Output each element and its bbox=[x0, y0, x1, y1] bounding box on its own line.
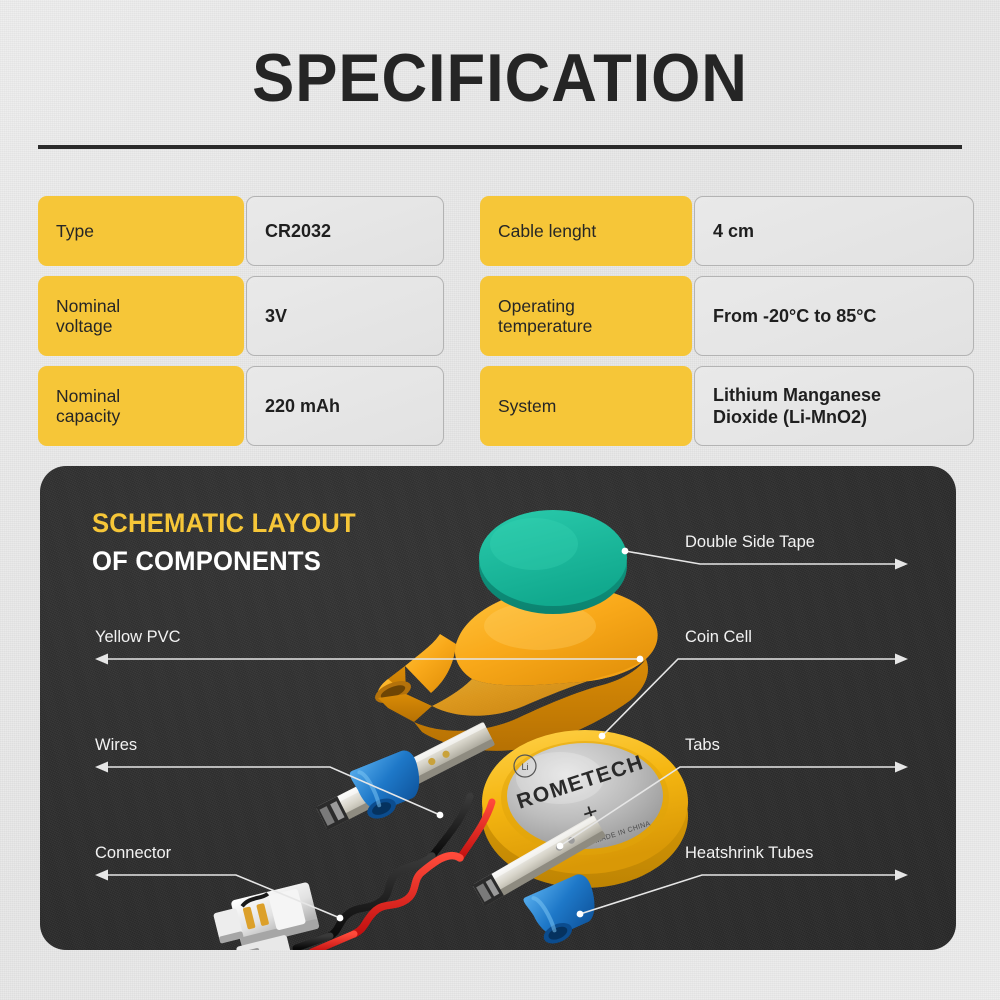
spec-value: 4 cm bbox=[694, 196, 974, 266]
table-row: Nominalvoltage 3V bbox=[38, 276, 482, 356]
callout-label-double-side-tape: Double Side Tape bbox=[685, 533, 815, 552]
title-divider bbox=[38, 145, 962, 149]
schematic-panel: SCHEMATIC LAYOUT OF COMPONENTS bbox=[40, 466, 956, 950]
leader-dot-heatshrink-tubes bbox=[577, 911, 584, 918]
callout-label-heatshrink-tubes: Heatshrink Tubes bbox=[685, 844, 813, 863]
spec-label: Cable lenght bbox=[480, 196, 692, 266]
spec-value: From -20°C to 85°C bbox=[694, 276, 974, 356]
spec-column-left: Type CR2032 Nominalvoltage 3V Nominalcap… bbox=[38, 196, 482, 456]
arrowhead-tabs bbox=[895, 762, 908, 773]
callout-label-coin-cell: Coin Cell bbox=[685, 628, 752, 647]
table-row: Nominalcapacity 220 mAh bbox=[38, 366, 482, 446]
leader-wires bbox=[103, 767, 440, 815]
page-title: SPECIFICATION bbox=[35, 42, 965, 114]
arrowhead-heatshrink-tubes bbox=[895, 870, 908, 881]
table-row: System Lithium ManganeseDioxide (Li-MnO2… bbox=[480, 366, 924, 446]
arrowhead-yellow-pvc bbox=[95, 654, 108, 665]
arrowhead-wires bbox=[95, 762, 108, 773]
callout-label-yellow-pvc: Yellow PVC bbox=[95, 628, 181, 647]
callout-leader-lines bbox=[40, 466, 956, 950]
leader-coin-cell bbox=[602, 659, 900, 736]
leader-dot-double-side-tape bbox=[622, 548, 629, 555]
leader-dot-connector bbox=[337, 915, 344, 922]
leader-tabs bbox=[560, 767, 900, 846]
leader-connector bbox=[103, 875, 340, 918]
leader-dot-tabs bbox=[557, 843, 564, 850]
table-row: Type CR2032 bbox=[38, 196, 482, 266]
leader-dot-yellow-pvc bbox=[637, 656, 644, 663]
spec-value: 220 mAh bbox=[246, 366, 444, 446]
arrowhead-connector bbox=[95, 870, 108, 881]
spec-label: Type bbox=[38, 196, 244, 266]
spec-label: Nominalcapacity bbox=[38, 366, 244, 446]
spec-column-right: Cable lenght 4 cm Operatingtemperature F… bbox=[480, 196, 924, 456]
spec-label: Operatingtemperature bbox=[480, 276, 692, 356]
callout-label-wires: Wires bbox=[95, 736, 137, 755]
leader-dot-wires bbox=[437, 812, 444, 819]
leader-double-side-tape bbox=[625, 551, 900, 564]
spec-label: Nominalvoltage bbox=[38, 276, 244, 356]
table-row: Operatingtemperature From -20°C to 85°C bbox=[480, 276, 924, 356]
callout-label-connector: Connector bbox=[95, 844, 171, 863]
leader-heatshrink-tubes bbox=[580, 875, 900, 914]
leader-dot-coin-cell bbox=[599, 733, 606, 740]
spec-label: System bbox=[480, 366, 692, 446]
spec-value: Lithium ManganeseDioxide (Li-MnO2) bbox=[694, 366, 974, 446]
spec-value: CR2032 bbox=[246, 196, 444, 266]
spec-value: 3V bbox=[246, 276, 444, 356]
table-row: Cable lenght 4 cm bbox=[480, 196, 924, 266]
arrowhead-double-side-tape bbox=[895, 559, 908, 570]
arrowhead-coin-cell bbox=[895, 654, 908, 665]
callout-label-tabs: Tabs bbox=[685, 736, 720, 755]
